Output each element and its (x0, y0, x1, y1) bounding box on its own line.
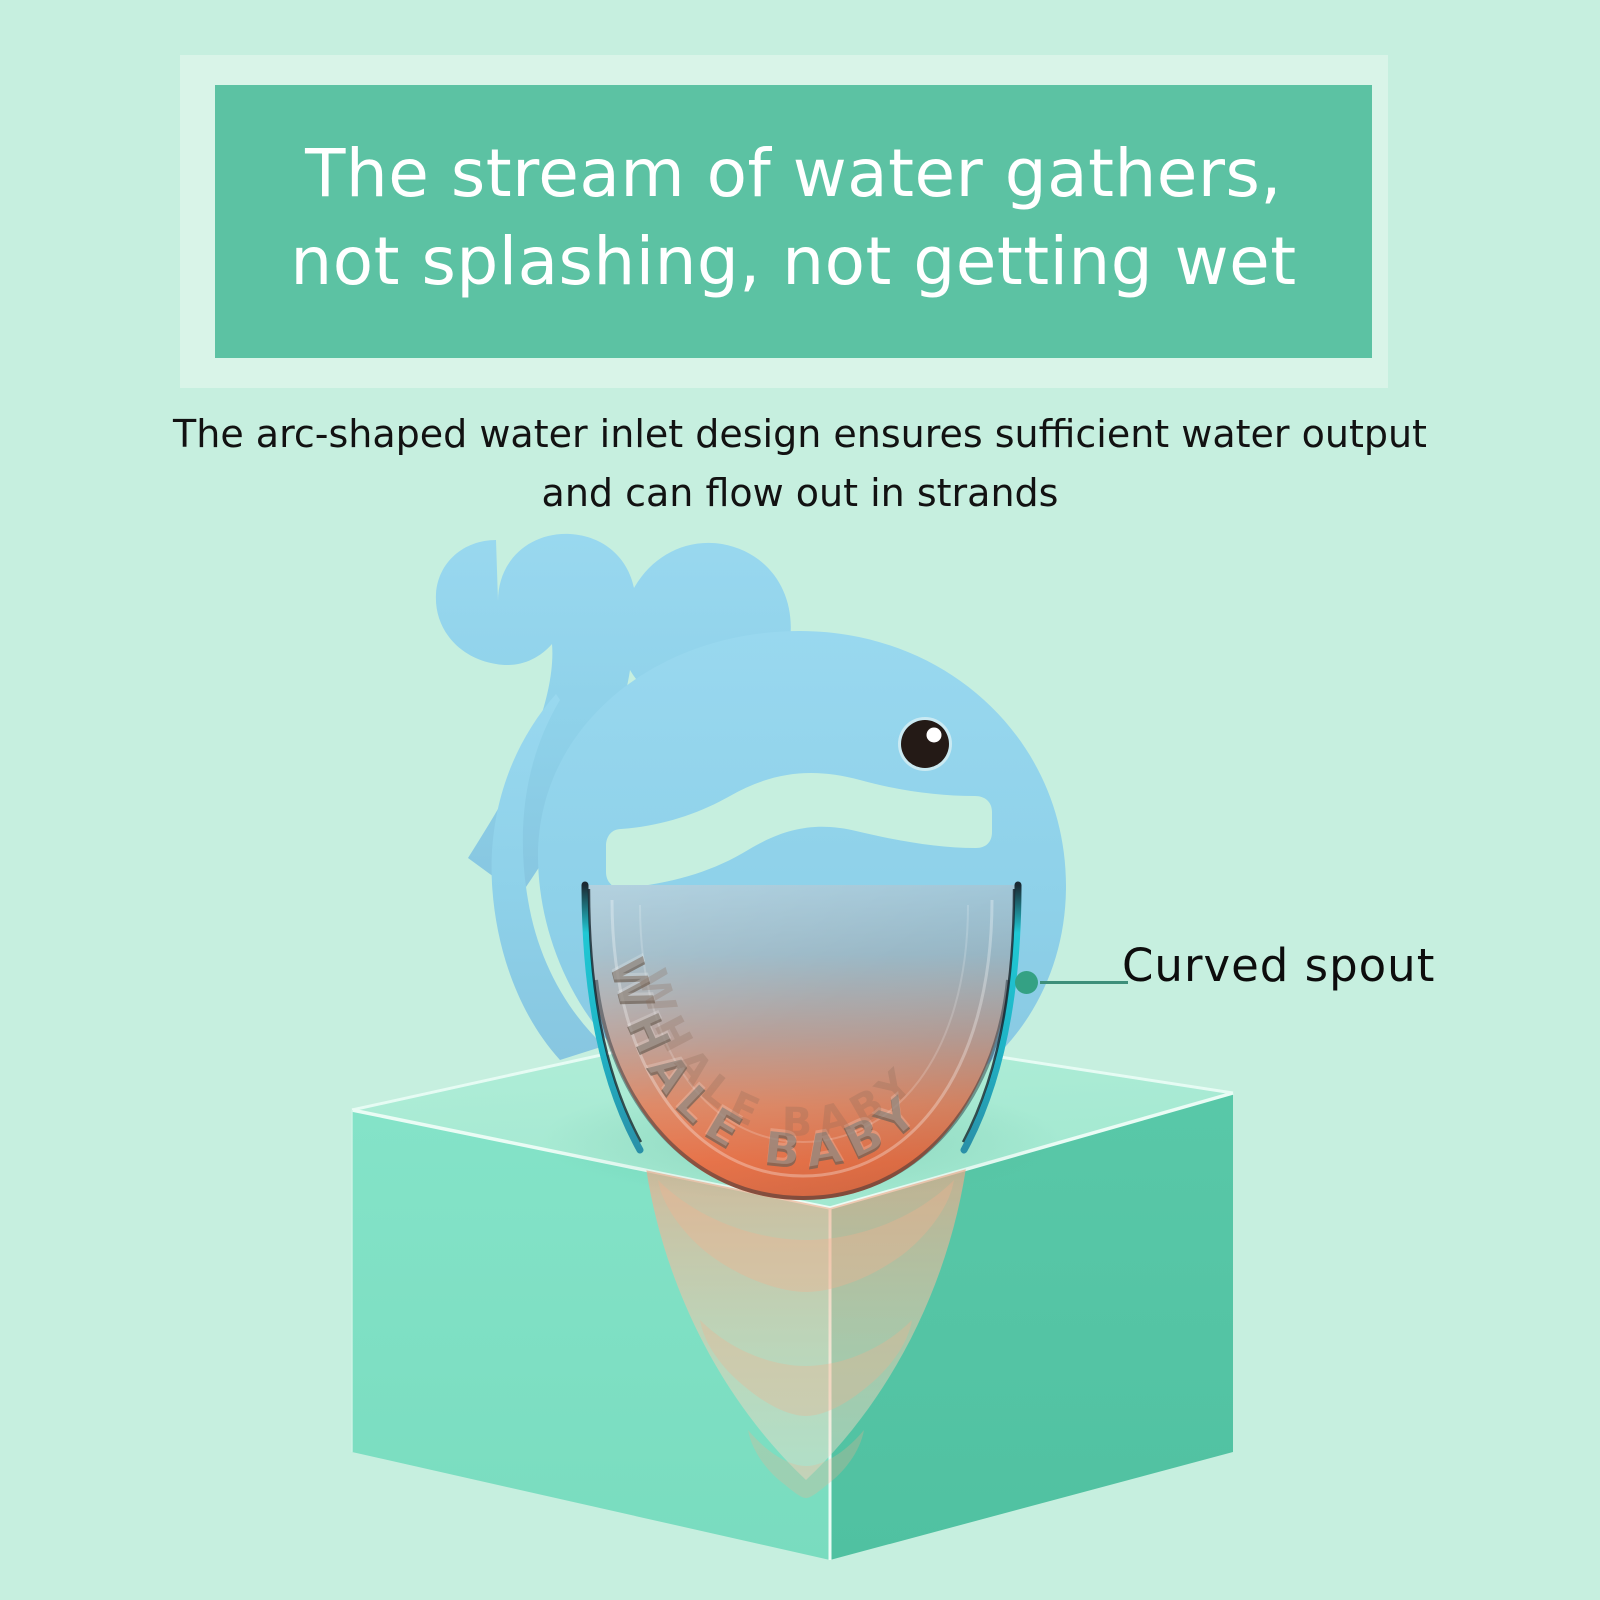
product-scene: WHALE BABY WHALE BABY WHALE BABY (0, 0, 1600, 1600)
product-feature-page: The stream of water gathers, not splashi… (0, 0, 1600, 1600)
callout-curved-spout: Curved spout (1010, 926, 1460, 1038)
callout-label: Curved spout (1122, 939, 1435, 992)
whale-eye (898, 717, 952, 771)
callout-leader-line (1040, 981, 1128, 984)
eye-highlight (927, 728, 942, 743)
callout-marker-dot (1015, 971, 1038, 994)
